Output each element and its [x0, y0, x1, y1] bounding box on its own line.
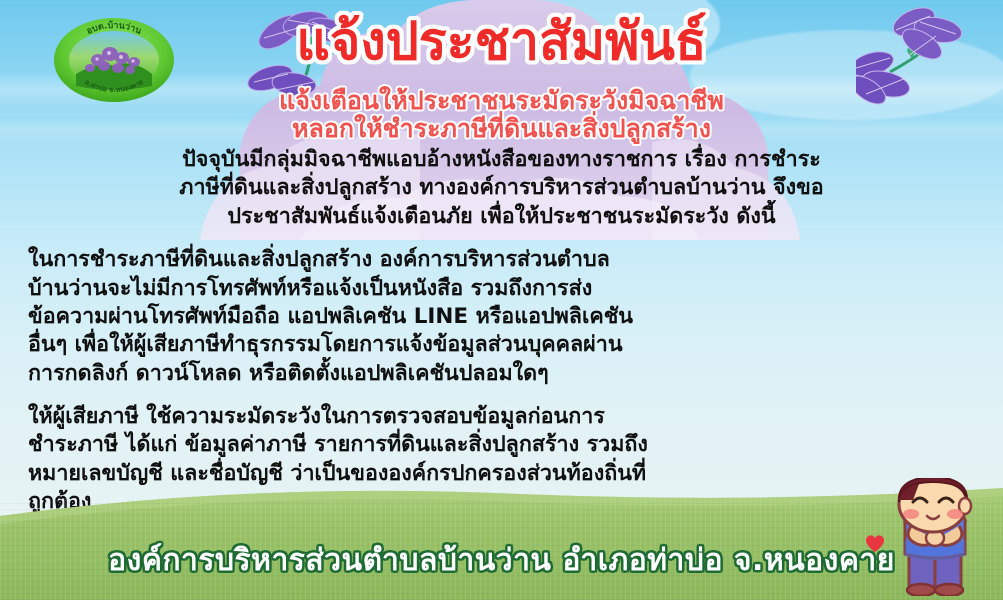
paragraph-2-line-3: ข้อความผ่านโทรศัพท์มือถือ แอปพลิเคชัน LI… — [28, 303, 975, 331]
paragraph-1-line-2: ภาษีที่ดินและสิ่งปลูกสร้าง ทางองค์การบริ… — [28, 174, 975, 202]
paragraph-3-line-1: ให้ผู้เสียภาษี ใช้ความระมัดระวังในการตรว… — [28, 403, 975, 431]
paragraph-1-line-1: ปัจจุบันมีกลุ่มมิจฉาชีพแอบอ้างหนังสือของ… — [28, 146, 975, 174]
paragraph-2: ในการชำระภาษีที่ดินและสิ่งปลูกสร้าง องค์… — [28, 246, 975, 388]
paragraph-1: ปัจจุบันมีกลุ่มมิจฉาชีพแอบอ้างหนังสือของ… — [28, 146, 975, 231]
paragraph-2-line-2: บ้านว่านจะไม่มีการโทรศัพท์หรือแจ้งเป็นหน… — [28, 275, 975, 303]
paragraph-2-line-5: การกดลิงก์ ดาวน์โหลด หรือติดตั้งแอปพลิเค… — [28, 360, 975, 388]
paragraph-2-line-4: อื่นๆ เพื่อให้ผู้เสียภาษีทำธุรกรรมโดยการ… — [28, 331, 975, 359]
announcement-poster: อบต.บ้านว่าน อ.ท่าบ่อ จ.หนองคาย แจ้งประช… — [0, 0, 1003, 600]
page-title: แจ้งประชาสัมพันธ์ — [0, 16, 1003, 68]
paragraph-1-line-3: ประชาสัมพันธ์แจ้งเตือนภัย เพื่อให้ประชาช… — [28, 203, 975, 231]
subtitle-line-2: หลอกให้ชำระภาษีที่ดินและสิ่งปลูกสร้าง — [0, 114, 1003, 143]
paragraph-2-line-1: ในการชำระภาษีที่ดินและสิ่งปลูกสร้าง องค์… — [28, 246, 975, 274]
paragraph-3-line-2: ชำระภาษี ได้แก่ ข้อมูลค่าภาษี รายการที่ด… — [28, 431, 975, 459]
subtitle-line-1: แจ้งเตือนให้ประชาชนระมัดระวังมิจฉาชีพ — [0, 86, 1003, 115]
footer-organization-name: องค์การบริหารส่วนตำบลบ้านว่าน อำเภอท่าบ่… — [0, 537, 1003, 584]
